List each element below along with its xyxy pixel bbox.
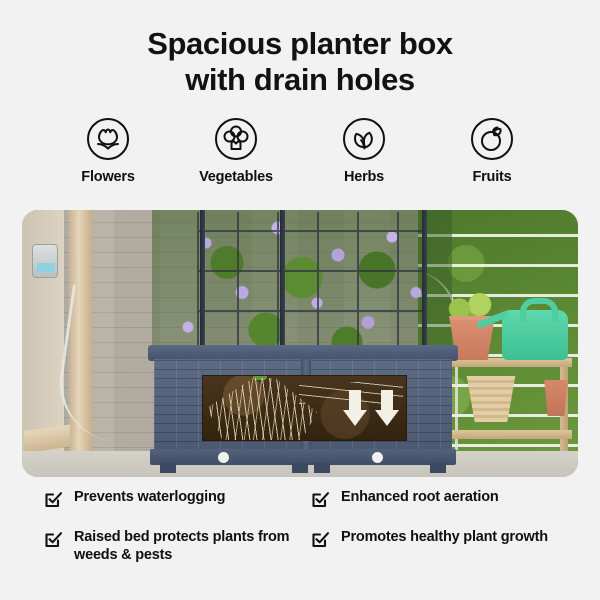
- feature-item: Prevents waterlogging: [44, 488, 293, 514]
- feature-text: Raised bed protects plants from weeds & …: [74, 528, 293, 565]
- trellis-post-right: [422, 210, 427, 360]
- wall-device-box: [32, 244, 58, 278]
- planter-leg-4: [430, 463, 446, 473]
- trellis-mesh: [197, 212, 427, 352]
- feature-column-right: Enhanced root aeration Promotes healthy …: [311, 488, 560, 579]
- trellis-post-mid: [280, 210, 285, 360]
- checkbox-check-icon: [44, 530, 63, 554]
- category-label-vegetables: Vegetables: [190, 169, 282, 185]
- page-title: Spacious planter box with drain holes: [0, 0, 600, 98]
- feature-item: Enhanced root aeration: [311, 488, 560, 514]
- drain-hole-right: [372, 452, 383, 463]
- headline-line-2: with drain holes: [0, 62, 600, 98]
- planter-leg-1: [160, 463, 176, 473]
- root-cutaway-window: [202, 375, 407, 441]
- planter-leg-3: [314, 463, 330, 473]
- feature-item: Raised bed protects plants from weeds & …: [44, 528, 293, 565]
- category-label-flowers: Flowers: [62, 169, 154, 185]
- tulip-icon: [85, 116, 131, 162]
- feature-column-left: Prevents waterlogging Raised bed protect…: [44, 488, 293, 579]
- watering-can: [502, 310, 568, 360]
- broccoli-icon: [213, 116, 259, 162]
- trellis-post-left: [200, 210, 205, 360]
- category-item-herbs: Herbs: [318, 116, 410, 185]
- checkbox-check-icon: [311, 490, 330, 514]
- leaves-icon: [341, 116, 387, 162]
- wicker-pot: [462, 376, 520, 422]
- feature-text: Prevents waterlogging: [74, 488, 225, 507]
- category-label-herbs: Herbs: [318, 169, 410, 185]
- feature-text: Promotes healthy plant growth: [341, 528, 548, 547]
- planter-box: [154, 345, 452, 473]
- feature-list: Prevents waterlogging Raised bed protect…: [0, 488, 600, 579]
- product-photo: [22, 210, 578, 477]
- planter-leg-2: [292, 463, 308, 473]
- checkbox-check-icon: [311, 530, 330, 554]
- feature-item: Promotes healthy plant growth: [311, 528, 560, 554]
- category-list: Flowers Vegetables Herbs: [0, 98, 600, 185]
- drain-hole-left: [218, 452, 229, 463]
- apple-icon: [469, 116, 515, 162]
- checkbox-check-icon: [44, 490, 63, 514]
- category-item-fruits: Fruits: [446, 116, 538, 185]
- category-item-flowers: Flowers: [62, 116, 154, 185]
- category-item-vegetables: Vegetables: [190, 116, 282, 185]
- category-label-fruits: Fruits: [446, 169, 538, 185]
- headline-line-1: Spacious planter box: [147, 26, 453, 61]
- feature-text: Enhanced root aeration: [341, 488, 499, 507]
